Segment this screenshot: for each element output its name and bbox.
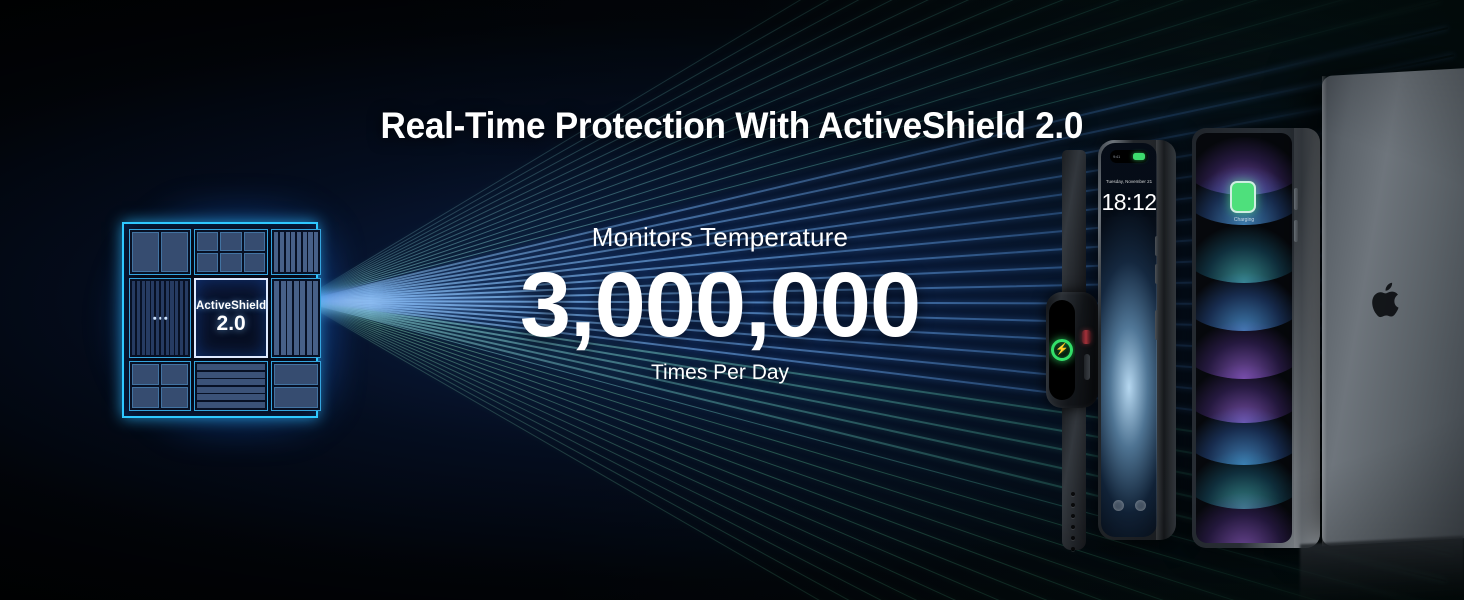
chip-block-bottom-right (271, 361, 321, 411)
activeshield-chip: ActiveShield 2.0 (122, 222, 318, 418)
chip-dots-icon (153, 317, 167, 320)
chip-block-bottom-left (129, 361, 191, 411)
chip-block-top-left (129, 229, 191, 275)
chip-block-mid-right (271, 278, 321, 358)
statistic-value: 3,000,000 (460, 257, 980, 355)
promo-banner: ActiveShield 2.0 (0, 0, 1464, 600)
chip-block-mid-left (129, 278, 191, 358)
chip-die: ActiveShield 2.0 (122, 222, 318, 418)
chip-block-top-right (271, 229, 321, 275)
chip-core-name: ActiveShield (196, 300, 266, 312)
chip-core: ActiveShield 2.0 (194, 278, 268, 358)
statistic-label: Monitors Temperature (460, 222, 980, 253)
chip-block-bottom-center (194, 361, 268, 411)
statistic-block: Monitors Temperature 3,000,000 Times Per… (460, 222, 980, 385)
chip-core-version: 2.0 (217, 313, 246, 335)
chip-block-top-center (194, 229, 268, 275)
statistic-unit: Times Per Day (460, 361, 980, 385)
